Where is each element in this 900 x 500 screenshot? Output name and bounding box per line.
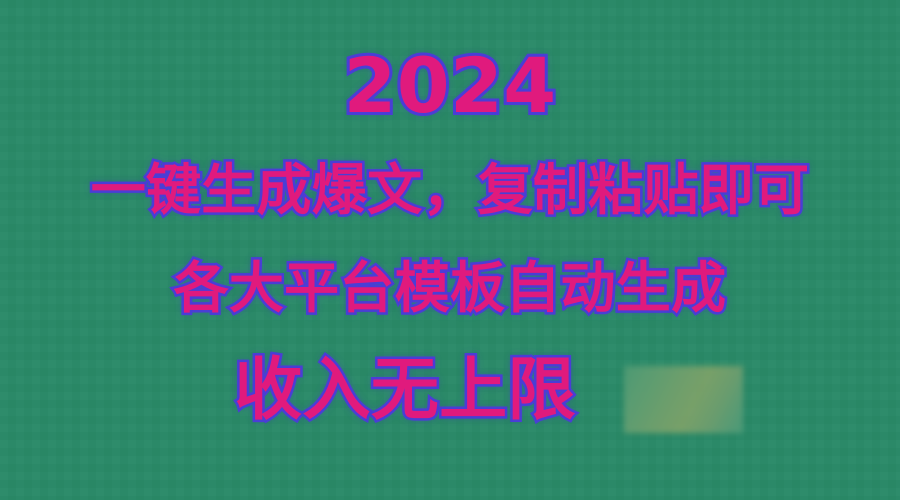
- promo-poster: 2024 一键生成爆文，复制粘贴即可 各大平台模板自动生成 收入无上限: [0, 0, 900, 500]
- headline-platform-templates: 各大平台模板自动生成: [0, 261, 900, 316]
- blurred-redaction-overlay: [624, 366, 743, 433]
- headline-one-click-generate: 一键生成爆文，复制粘贴即可: [0, 163, 900, 218]
- headline-year: 2024: [0, 48, 900, 124]
